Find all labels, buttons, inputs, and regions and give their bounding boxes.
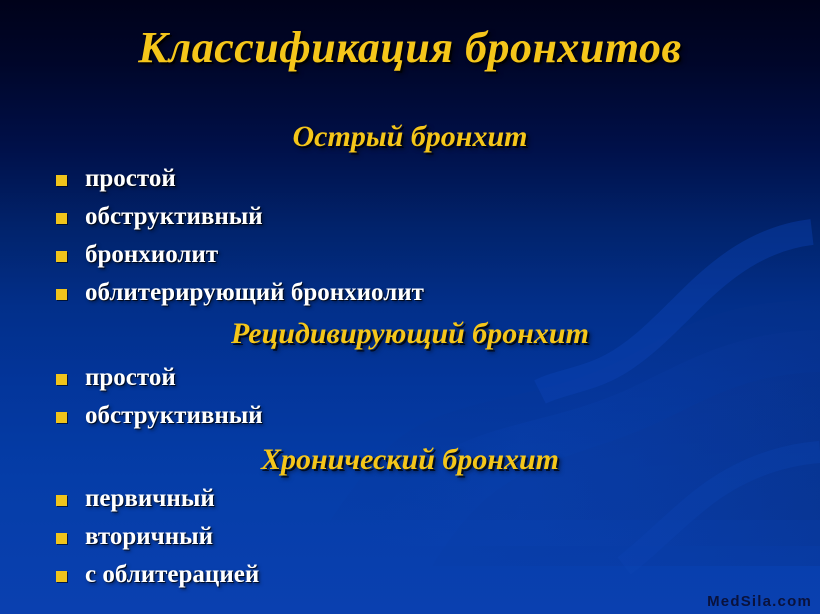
bullet-square-icon <box>56 289 67 300</box>
list-item-label: бронхиолит <box>85 241 218 269</box>
list-item-label: простой <box>85 364 176 392</box>
presentation-slide: Классификация бронхитов Острый бронхит п… <box>0 0 820 614</box>
list-item: первичный <box>56 485 215 513</box>
list-item: обструктивный <box>56 203 263 231</box>
bullet-square-icon <box>56 412 67 423</box>
list-item-label: первичный <box>85 485 215 513</box>
section-heading-acute: Острый бронхит <box>0 120 820 154</box>
list-item: обструктивный <box>56 402 263 430</box>
list-item-label: вторичный <box>85 523 213 551</box>
list-item: облитерирующий бронхиолит <box>56 279 424 307</box>
bullet-square-icon <box>56 251 67 262</box>
list-item: простой <box>56 364 176 392</box>
bullet-square-icon <box>56 495 67 506</box>
bullet-square-icon <box>56 533 67 544</box>
bullet-square-icon <box>56 374 67 385</box>
bullet-square-icon <box>56 213 67 224</box>
list-item: вторичный <box>56 523 213 551</box>
watermark: MedSila.com <box>707 593 812 610</box>
list-item: бронхиолит <box>56 241 218 269</box>
page-title: Классификация бронхитов <box>0 22 820 73</box>
bullet-square-icon <box>56 571 67 582</box>
list-item-label: простой <box>85 165 176 193</box>
list-item-label: облитерирующий бронхиолит <box>85 279 424 307</box>
section-heading-recurrent: Рецидивирующий бронхит <box>0 317 820 351</box>
list-item-label: обструктивный <box>85 203 263 231</box>
list-item-label: обструктивный <box>85 402 263 430</box>
list-item: простой <box>56 165 176 193</box>
section-heading-chronic: Хронический бронхит <box>0 443 820 477</box>
bullet-square-icon <box>56 175 67 186</box>
list-item: с облитерацией <box>56 561 259 589</box>
list-item-label: с облитерацией <box>85 561 259 589</box>
